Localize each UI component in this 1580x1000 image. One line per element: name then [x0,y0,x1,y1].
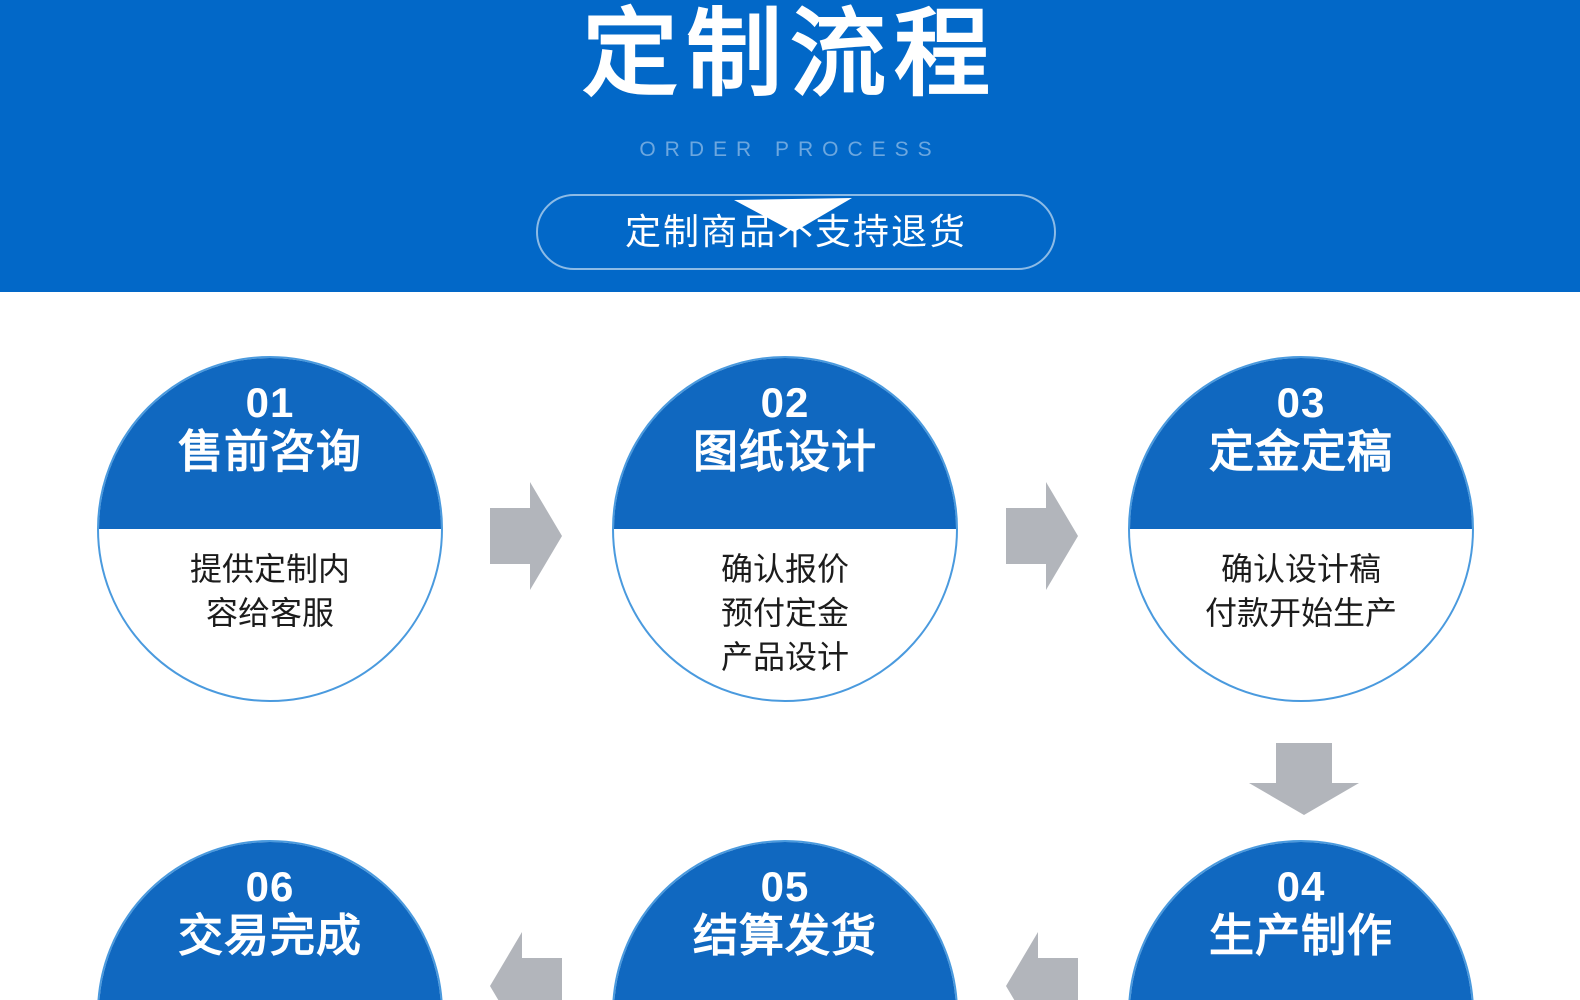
step-02-desc-line: 产品设计 [721,635,849,679]
step-03-title: 定金定稿 [1209,426,1393,478]
flow-diagram: 01 售前咨询 提供定制内 容给客服 02 图纸设计 确认报价 预付定金 产品 [0,292,1580,1000]
order-process-infographic: 定制流程 ORDER PROCESS 定制商品不支持退货 01 售前咨询 提供定… [0,0,1580,1000]
step-02-header: 02 图纸设计 [614,358,956,529]
arrow-step-01-to-02 [490,482,562,590]
step-circle-02[interactable]: 02 图纸设计 确认报价 预付定金 产品设计 [612,356,958,702]
step-01-desc-line: 提供定制内 [190,547,350,591]
step-03-header: 03 定金定稿 [1130,358,1472,529]
step-06-title: 交易完成 [178,910,362,962]
step-03-number: 03 [1277,380,1326,426]
step-circle-05[interactable]: 05 结算发货 生产完快 [612,840,958,1000]
step-04-header: 04 生产制作 [1130,842,1472,1000]
step-04-title: 生产制作 [1209,910,1393,962]
step-circle-03[interactable]: 03 定金定稿 确认设计稿 付款开始生产 [1128,356,1474,702]
step-05-number: 05 [761,864,810,910]
no-return-notice-pill[interactable]: 定制商品不支持退货 [536,194,1056,270]
step-02-desc-line: 确认报价 [721,547,849,591]
arrow-step-04-to-05 [1006,932,1078,1000]
header-banner: 定制流程 ORDER PROCESS 定制商品不支持退货 [0,0,1580,292]
step-02-desc-line: 预付定金 [721,591,849,635]
step-01-header: 01 售前咨询 [99,358,441,529]
step-02-number: 02 [761,380,810,426]
step-02-title: 图纸设计 [693,426,877,478]
step-01-title: 售前咨询 [178,426,362,478]
step-05-title: 结算发货 [693,910,877,962]
no-return-notice-label: 定制商品不支持退货 [625,211,967,253]
step-03-body: 确认设计稿 付款开始生产 [1130,529,1472,700]
arrow-step-03-to-04 [1249,743,1359,815]
page-title: 定制流程 [0,0,1580,114]
step-circle-04[interactable]: 04 生产制作 根据板数开 [1128,840,1474,1000]
step-01-desc-line: 容给客服 [206,591,334,635]
step-circle-01[interactable]: 01 售前咨询 提供定制内 容给客服 [97,356,443,702]
step-05-header: 05 结算发货 [614,842,956,1000]
arrow-step-02-to-03 [1006,482,1078,590]
step-01-number: 01 [246,380,295,426]
step-03-desc-line: 付款开始生产 [1205,591,1397,635]
step-06-header: 06 交易完成 [99,842,441,1000]
step-06-number: 06 [246,864,295,910]
step-02-body: 确认报价 预付定金 产品设计 [614,529,956,700]
step-circle-06[interactable]: 06 交易完成 [97,840,443,1000]
arrow-step-05-to-06 [490,932,562,1000]
page-subtitle: ORDER PROCESS [0,137,1580,163]
step-04-number: 04 [1277,864,1326,910]
step-03-desc-line: 确认设计稿 [1221,547,1381,591]
step-01-body: 提供定制内 容给客服 [99,529,441,700]
